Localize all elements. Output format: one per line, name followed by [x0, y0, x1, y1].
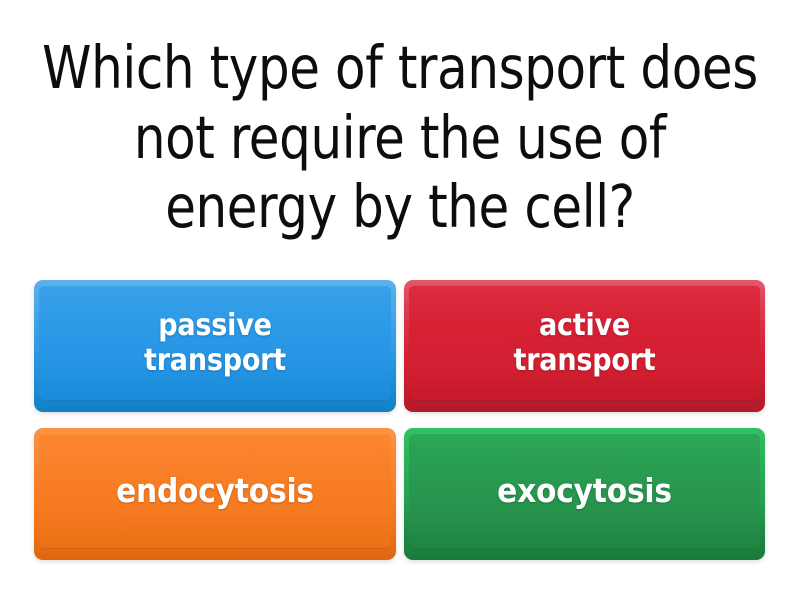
- answer-options-grid: passive transport active transport endoc…: [34, 280, 765, 560]
- question-area: Which type of transport does not require…: [0, 10, 800, 265]
- quiz-card: Which type of transport does not require…: [0, 0, 800, 600]
- answer-option-exocytosis[interactable]: exocytosis: [404, 428, 765, 560]
- answer-option-label: active transport: [513, 308, 655, 379]
- question-text: Which type of transport does not require…: [41, 33, 759, 242]
- answer-option-face: endocytosis: [39, 433, 391, 549]
- answer-option-endocytosis[interactable]: endocytosis: [34, 428, 396, 560]
- answer-option-label: endocytosis: [116, 472, 314, 511]
- answer-option-face: passive transport: [39, 285, 391, 401]
- answer-option-passive-transport[interactable]: passive transport: [34, 280, 396, 412]
- answer-option-face: active transport: [409, 285, 760, 401]
- answer-option-label: passive transport: [144, 308, 286, 379]
- answer-option-label: exocytosis: [497, 472, 672, 511]
- answer-option-face: exocytosis: [409, 433, 760, 549]
- answer-option-active-transport[interactable]: active transport: [404, 280, 765, 412]
